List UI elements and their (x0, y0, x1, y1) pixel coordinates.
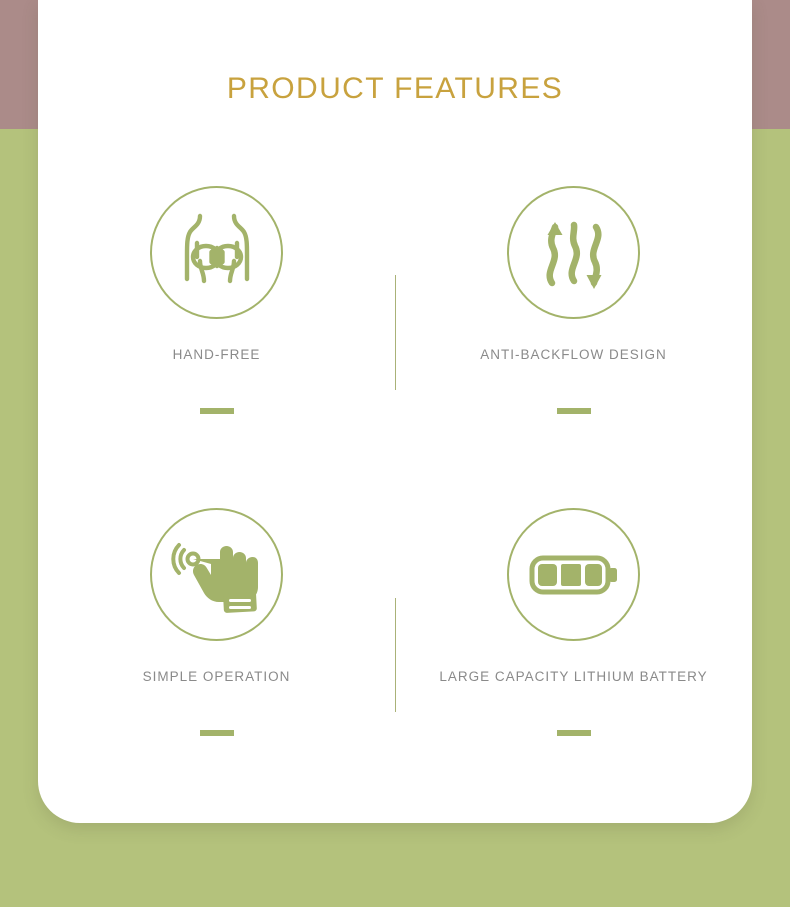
feature-item-anti-backflow[interactable]: ANTI-BACKFLOW DESIGN (395, 148, 752, 470)
feature-dash (200, 408, 234, 414)
feature-label: ANTI-BACKFLOW DESIGN (480, 347, 667, 362)
column-divider (395, 275, 396, 390)
feature-row: SIMPLE OPERATION LARGE CAPACITY LITHI (38, 470, 752, 792)
feature-label: HAND-FREE (173, 347, 261, 362)
feature-item-simple-operation[interactable]: SIMPLE OPERATION (38, 470, 395, 792)
product-features-page: PRODUCT FEATURES (0, 0, 790, 907)
page-title: PRODUCT FEATURES (38, 72, 752, 106)
tap-hand-icon (150, 508, 283, 641)
feature-label: LARGE CAPACITY LITHIUM BATTERY (439, 669, 707, 684)
feature-dash (557, 730, 591, 736)
feature-item-lithium-battery[interactable]: LARGE CAPACITY LITHIUM BATTERY (395, 470, 752, 792)
battery-full-icon (507, 508, 640, 641)
airflow-arrows-icon (507, 186, 640, 319)
feature-dash (557, 408, 591, 414)
feature-row: HAND-FREE ANTI-BACKFLOW DESIGN (38, 148, 752, 470)
feature-grid: HAND-FREE ANTI-BACKFLOW DESIGN (38, 148, 752, 792)
hands-free-bra-icon (150, 186, 283, 319)
feature-dash (200, 730, 234, 736)
column-divider (395, 598, 396, 712)
feature-card: PRODUCT FEATURES (38, 0, 752, 823)
feature-item-hand-free[interactable]: HAND-FREE (38, 148, 395, 470)
feature-label: SIMPLE OPERATION (143, 669, 291, 684)
